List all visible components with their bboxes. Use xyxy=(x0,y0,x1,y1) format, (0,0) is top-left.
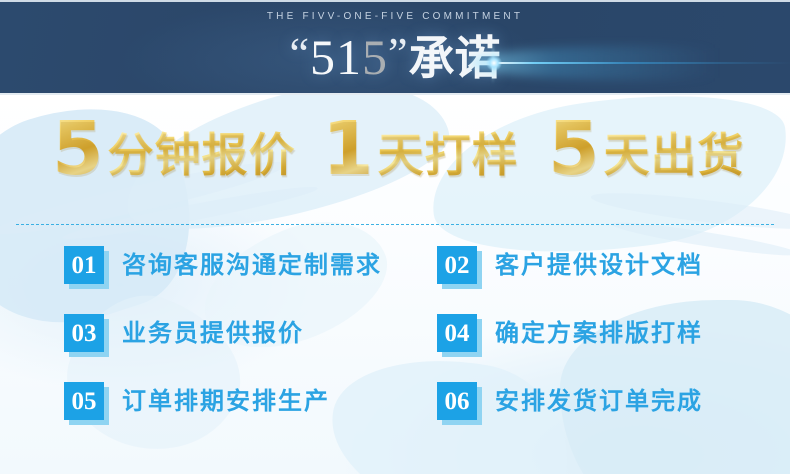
step-item-01: 01 咨询客服沟通定制需求 xyxy=(64,246,382,284)
badge-box: 06 xyxy=(437,382,477,420)
promise-text-3: 天出货 xyxy=(604,129,745,181)
promise-text-1: 分钟报价 xyxy=(108,129,296,181)
promise-item-1: 5分钟报价 xyxy=(52,112,296,186)
step-item-02: 02 客户提供设计文档 xyxy=(437,246,703,284)
step-item-04: 04 确定方案排版打样 xyxy=(437,314,703,352)
header-top-edge xyxy=(0,0,790,2)
step-number-02: 02 xyxy=(445,253,470,278)
step-label-04: 确定方案排版打样 xyxy=(495,318,703,348)
header-bottom-edge xyxy=(0,93,790,95)
step-badge-02: 02 xyxy=(437,246,479,284)
badge-box: 01 xyxy=(64,246,104,284)
step-item-06: 06 安排发货订单完成 xyxy=(437,382,703,420)
quote-open: “ xyxy=(289,29,310,78)
step-badge-06: 06 xyxy=(437,382,479,420)
promo-banner: THE FIVV-ONE-FIVE COMMITMENT “515”承诺 5分钟… xyxy=(0,0,790,474)
step-item-05: 05 订单排期安排生产 xyxy=(64,382,330,420)
badge-box: 02 xyxy=(437,246,477,284)
title-digit-1: 5 xyxy=(310,29,336,85)
step-number-01: 01 xyxy=(72,253,97,278)
lens-flare-streak xyxy=(492,62,790,64)
promise-item-2: 1天打样 xyxy=(322,112,519,186)
step-number-03: 03 xyxy=(72,321,97,346)
badge-box: 04 xyxy=(437,314,477,352)
promise-number-3: 5 xyxy=(548,112,602,186)
title-digit-3: 5 xyxy=(362,29,388,85)
promise-text-2: 天打样 xyxy=(378,129,519,181)
promise-item-3: 5天出货 xyxy=(548,112,745,186)
step-badge-05: 05 xyxy=(64,382,106,420)
step-label-01: 咨询客服沟通定制需求 xyxy=(122,250,382,280)
step-number-06: 06 xyxy=(445,389,470,414)
step-item-03: 03 业务员提供报价 xyxy=(64,314,304,352)
promise-number-2: 1 xyxy=(322,112,376,186)
step-label-05: 订单排期安排生产 xyxy=(122,386,330,416)
header-banner: THE FIVV-ONE-FIVE COMMITMENT “515”承诺 xyxy=(0,0,790,95)
step-number-04: 04 xyxy=(445,321,470,346)
title-digit-2: 1 xyxy=(336,29,362,85)
step-label-03: 业务员提供报价 xyxy=(122,318,304,348)
badge-box: 05 xyxy=(64,382,104,420)
badge-box: 03 xyxy=(64,314,104,352)
promise-number-1: 5 xyxy=(52,112,106,186)
step-number-05: 05 xyxy=(72,389,97,414)
step-label-02: 客户提供设计文档 xyxy=(495,250,703,280)
header-eyebrow: THE FIVV-ONE-FIVE COMMITMENT xyxy=(0,11,790,22)
step-badge-04: 04 xyxy=(437,314,479,352)
lens-flare-dot xyxy=(486,55,502,71)
step-badge-01: 01 xyxy=(64,246,106,284)
quote-close: ” xyxy=(388,29,409,78)
section-divider xyxy=(16,224,774,225)
promise-row: 5分钟报价 1天打样 5天出货 xyxy=(0,112,790,208)
step-label-06: 安排发货订单完成 xyxy=(495,386,703,416)
step-badge-03: 03 xyxy=(64,314,106,352)
